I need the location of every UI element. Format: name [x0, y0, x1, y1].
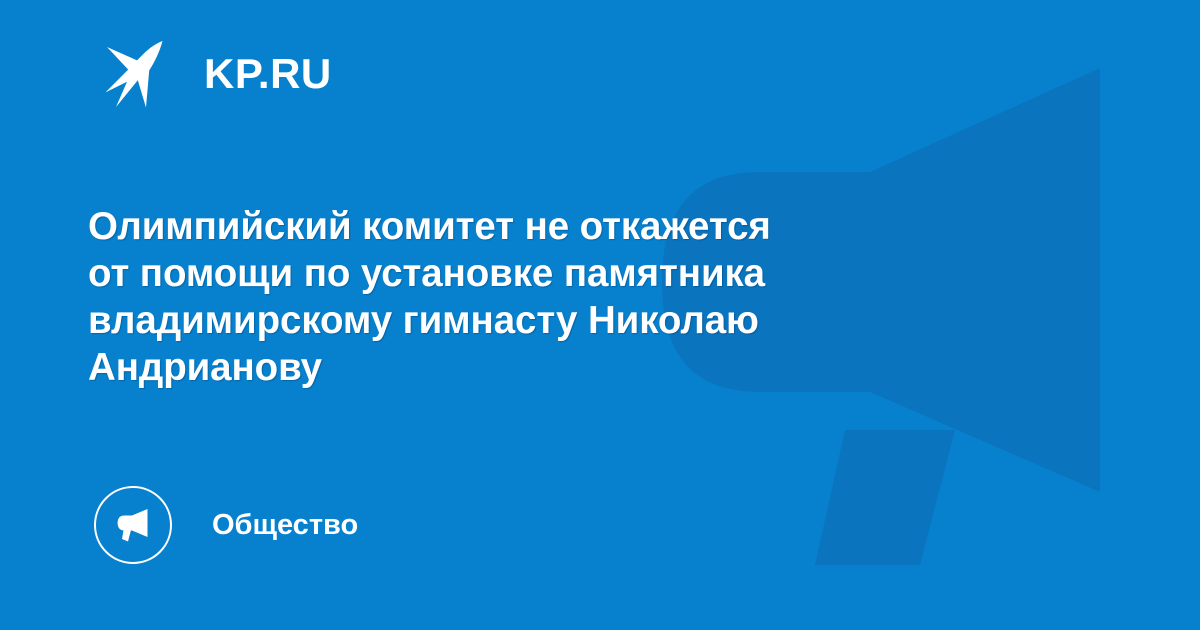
headline-line: Олимпийский комитет не откажется [88, 203, 1048, 250]
headline-line: владимирскому гимнасту Николаю [88, 297, 1048, 344]
social-share-card: KP.RU Олимпийский комитет не откажется о… [0, 0, 1200, 630]
headline-line: от помощи по установке памятника [88, 250, 1048, 297]
category-label: Общество [212, 511, 358, 540]
swallow-bird-icon [104, 39, 166, 109]
headline-line: Андрианову [88, 344, 1048, 391]
brand-logo-row[interactable]: KP.RU [104, 38, 332, 110]
category-badge[interactable]: Общество [94, 484, 358, 566]
brand-name-label: KP.RU [204, 53, 332, 95]
page-title: Олимпийский комитет не откажется от помо… [88, 203, 1048, 391]
megaphone-icon [94, 486, 172, 564]
